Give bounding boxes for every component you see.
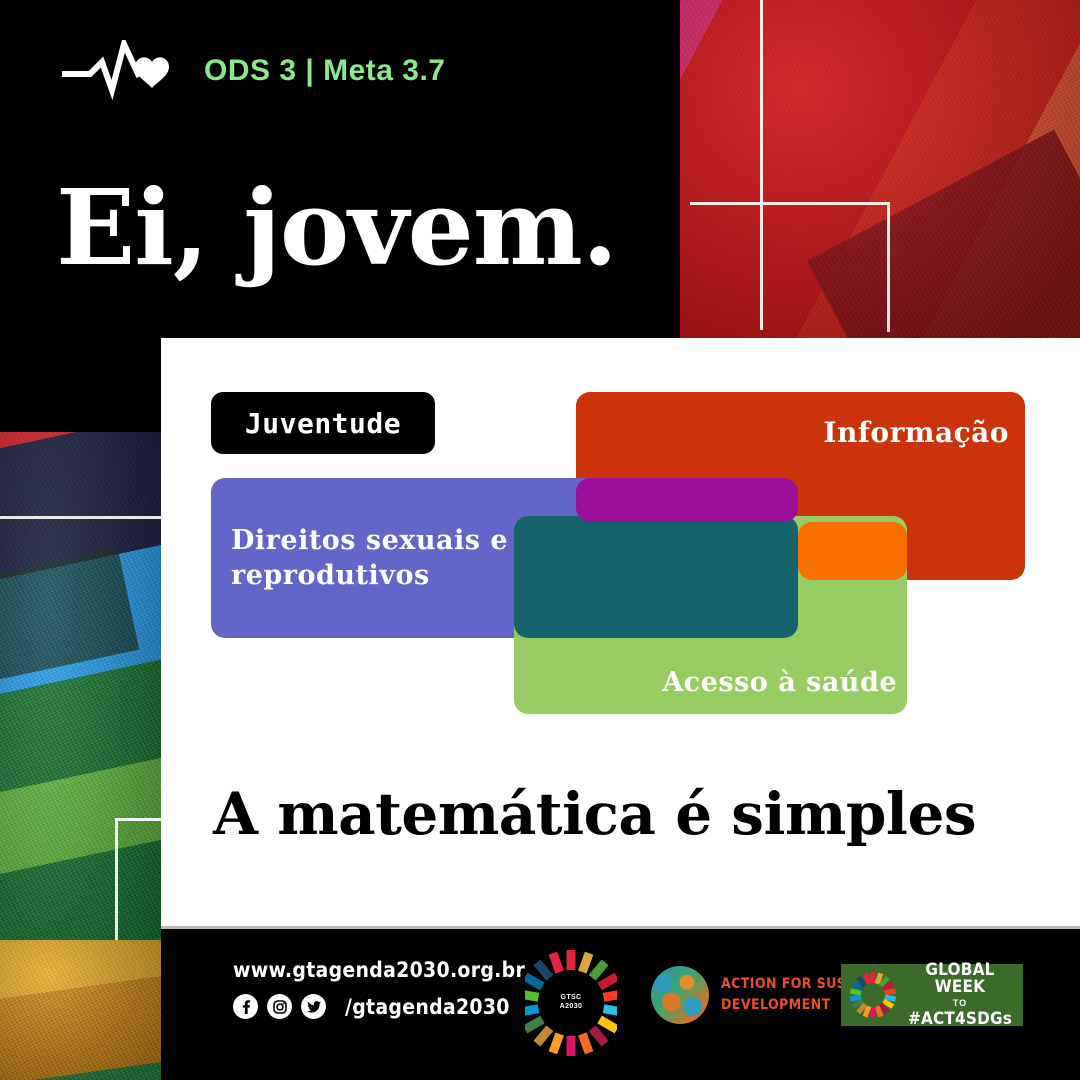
venn-center-label: Juventude xyxy=(245,407,401,440)
global-week-text: GLOBAL WEEK TO #ACT4SDGs xyxy=(905,962,1015,1028)
venn-label-health: Acesso à saúde xyxy=(662,667,897,698)
footer-contact-block: www.gtagenda2030.org.br xyxy=(233,958,525,1019)
guide-line-left-2 xyxy=(115,818,162,821)
guide-line-left-1 xyxy=(0,516,162,519)
gtsc-logo-line1: GTSC xyxy=(560,994,581,1003)
venn-overlap-rights-health xyxy=(514,516,798,638)
venn-label-information: Informação xyxy=(823,416,1009,449)
website-url[interactable]: www.gtagenda2030.org.br xyxy=(233,958,525,982)
venn-center-juventude: Juventude xyxy=(211,392,435,454)
globe-icon xyxy=(651,966,709,1024)
social-handle[interactable]: /gtagenda2030 xyxy=(345,995,510,1019)
venn-overlap-information-health xyxy=(798,522,907,580)
background-texture-bottom-left xyxy=(0,940,162,1080)
eyebrow-banner: ODS 3 | Meta 3.7 xyxy=(62,40,445,102)
social-links-row: /gtagenda2030 xyxy=(233,994,525,1019)
venn-overlap-rights-information xyxy=(576,478,798,522)
concept-venn-diagram: Informação Direitos sexuais e reprodutiv… xyxy=(211,392,1025,714)
global-week-line3: #ACT4SDGs xyxy=(905,1011,1015,1028)
facebook-icon[interactable] xyxy=(233,994,258,1019)
guide-line-vertical-tr2 xyxy=(887,202,890,332)
global-week-line2: TO xyxy=(905,999,1015,1008)
sdg-colour-wheel-icon xyxy=(849,971,897,1019)
global-week-act4sdgs-logo: GLOBAL WEEK TO #ACT4SDGs xyxy=(841,964,1023,1026)
gtsc-a2030-logo: GTSC A2030 xyxy=(525,948,617,1058)
gtsc-logo-line2: A2030 xyxy=(560,1003,583,1012)
poster-canvas: ODS 3 | Meta 3.7 Ei, jovem. Informação D… xyxy=(0,0,1080,1080)
guide-line-vertical-tr xyxy=(760,0,763,330)
footer-divider xyxy=(161,926,1080,929)
page-title: Ei, jovem. xyxy=(56,176,617,280)
venn-label-rights: Direitos sexuais e reprodutivos xyxy=(231,524,531,593)
global-week-line1: GLOBAL WEEK xyxy=(905,962,1015,996)
twitter-icon[interactable] xyxy=(301,994,326,1019)
footer-bar: www.gtagenda2030.org.br xyxy=(161,926,1080,1080)
tagline: A matemática é simples xyxy=(213,780,976,848)
eyebrow-label: ODS 3 | Meta 3.7 xyxy=(204,54,445,88)
background-texture-top-right xyxy=(680,0,1080,352)
instagram-icon[interactable] xyxy=(267,994,292,1019)
heartbeat-pulse-heart-icon xyxy=(62,40,186,102)
guide-line-horizontal-tr xyxy=(690,202,890,205)
